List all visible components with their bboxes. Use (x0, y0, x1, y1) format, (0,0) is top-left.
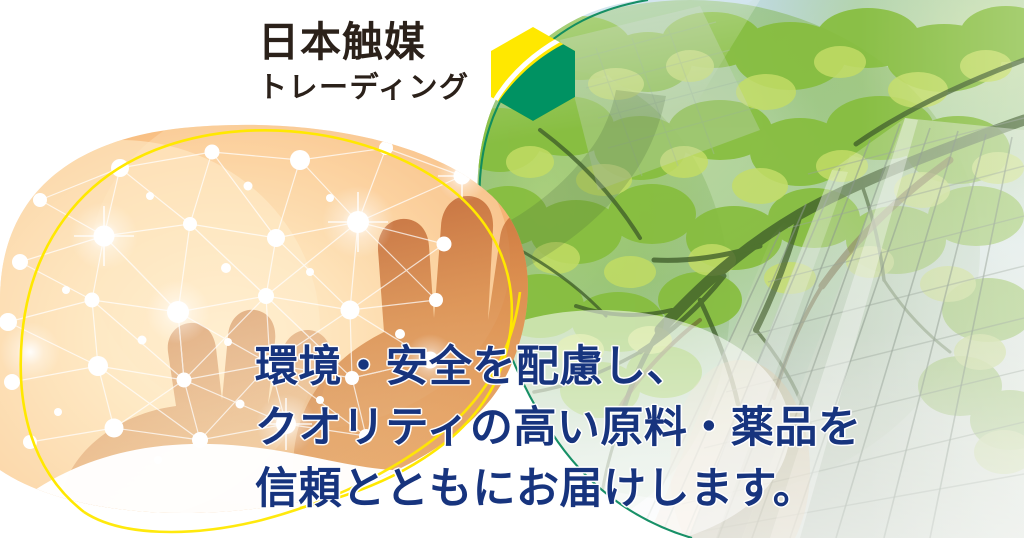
tagline-line-2: クオリティの高い原料・薬品を (255, 401, 861, 457)
hero-banner: 日本触媒 トレーディング 環境・安全を配慮し、 クオリティの高い原料・薬品を 信… (0, 0, 1024, 538)
company-logo[interactable]: 日本触媒 トレーディング (258, 22, 577, 122)
hexagon-logo-mark-icon (489, 26, 577, 122)
logo-wordmark: 日本触媒 トレーディング (258, 22, 469, 102)
logo-company-name: 日本触媒 (258, 22, 469, 63)
logo-division-name: トレーディング (258, 73, 469, 102)
tagline: 環境・安全を配慮し、 クオリティの高い原料・薬品を 信頼とともにお届けします。 (255, 340, 861, 518)
tagline-line-1: 環境・安全を配慮し、 (255, 340, 861, 396)
tagline-line-3: 信頼とともにお届けします。 (255, 462, 861, 518)
